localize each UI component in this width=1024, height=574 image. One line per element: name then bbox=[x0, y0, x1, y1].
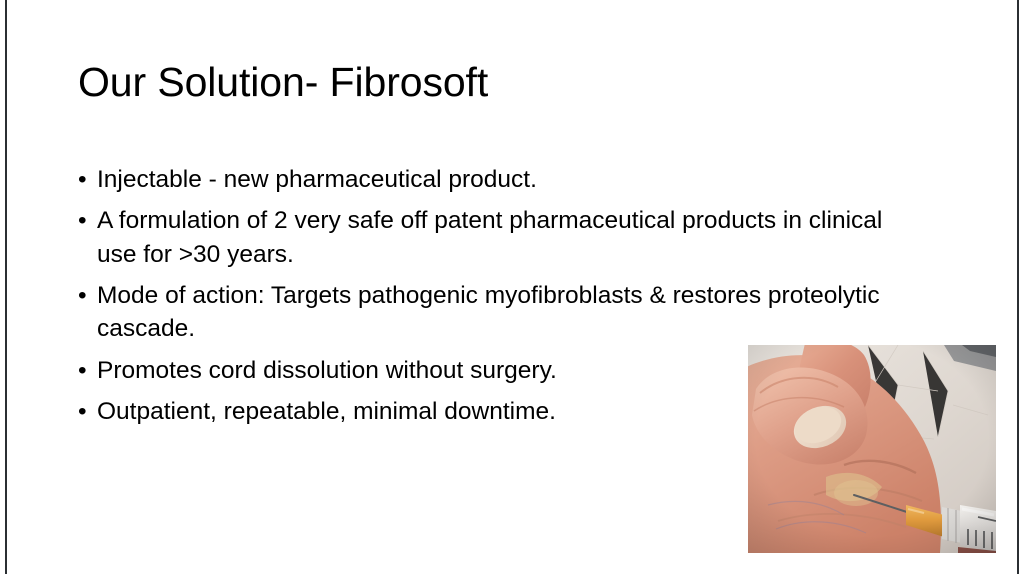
bullet-dot-icon: • bbox=[78, 354, 97, 387]
bullet-dot-icon: • bbox=[78, 163, 97, 196]
list-item-label: Mode of action: Targets pathogenic myofi… bbox=[97, 279, 908, 346]
bullet-dot-icon: • bbox=[78, 279, 97, 312]
list-item: • Injectable - new pharmaceutical produc… bbox=[78, 163, 908, 196]
list-item: • Mode of action: Targets pathogenic myo… bbox=[78, 279, 908, 346]
bullet-dot-icon: • bbox=[78, 395, 97, 428]
palm-injection-photo bbox=[748, 345, 996, 553]
bullet-dot-icon: • bbox=[78, 204, 97, 237]
slide-left-edge-rule bbox=[5, 0, 7, 574]
presentation-slide: Our Solution- Fibrosoft • Injectable - n… bbox=[0, 0, 1024, 574]
list-item-label: A formulation of 2 very safe off patent … bbox=[97, 204, 908, 271]
slide-right-edge-rule bbox=[1017, 0, 1019, 574]
list-item-label: Injectable - new pharmaceutical product. bbox=[97, 163, 908, 196]
list-item: • A formulation of 2 very safe off paten… bbox=[78, 204, 908, 271]
page-title: Our Solution- Fibrosoft bbox=[78, 58, 938, 106]
